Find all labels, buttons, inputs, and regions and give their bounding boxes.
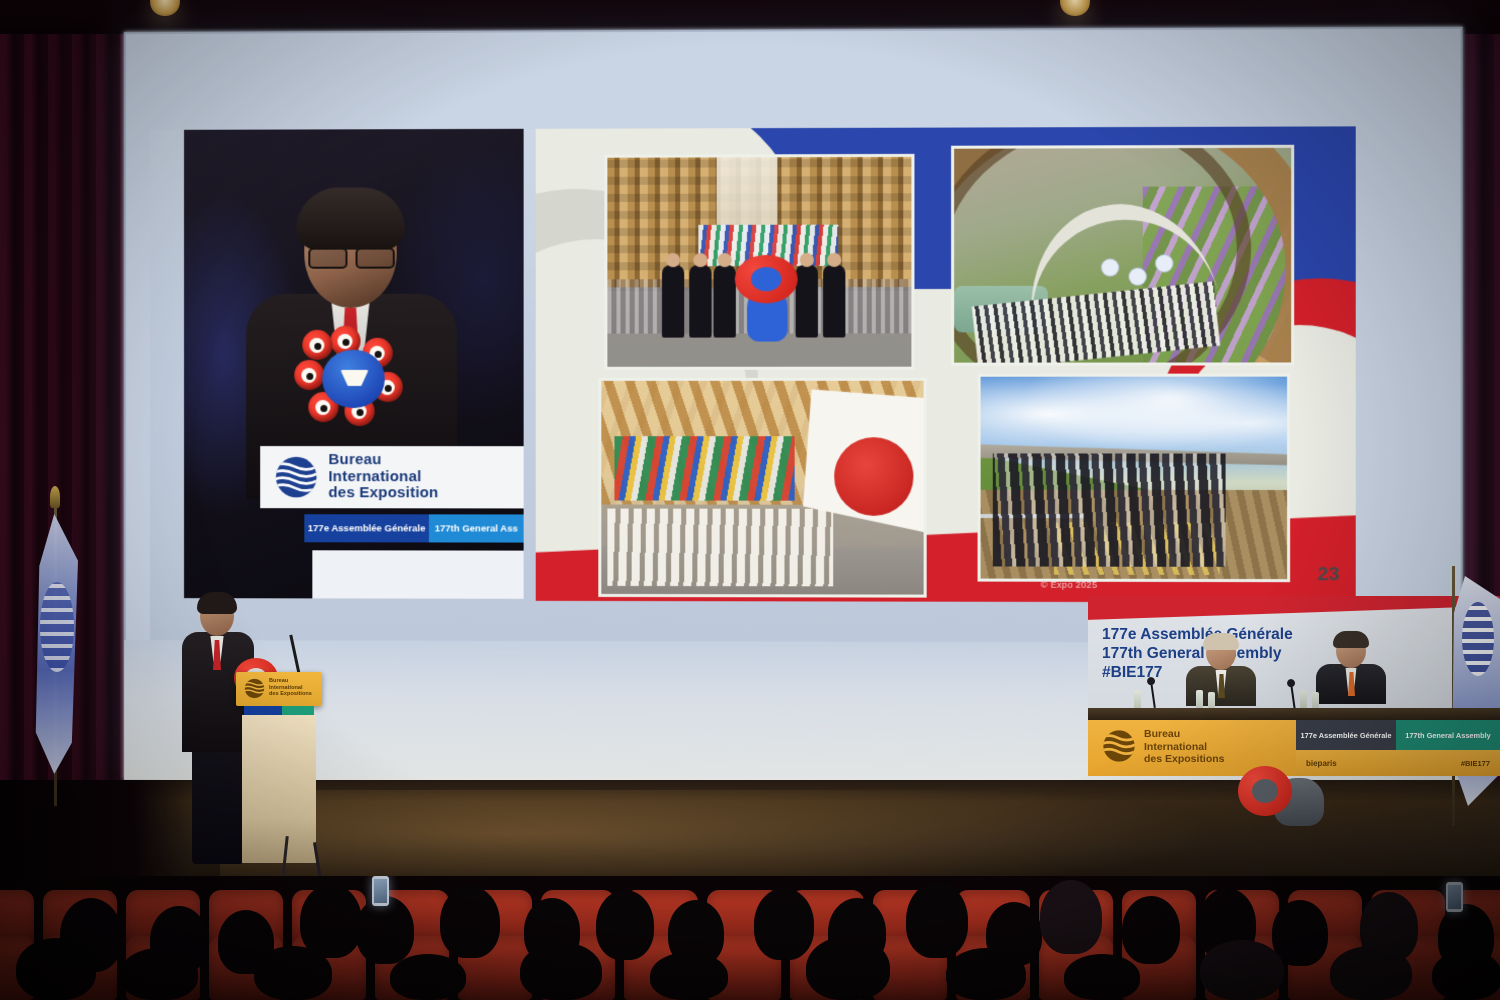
mascot-costume-in-photo [735, 255, 798, 342]
table-banner-right: 177e Assemblée Générale 177th General As… [1296, 720, 1500, 776]
official-hair [1333, 631, 1369, 648]
myaku-myaku-mascot-plush [294, 326, 413, 430]
event-hashtag: #BIE177 [1461, 759, 1490, 768]
audience-head [356, 896, 414, 964]
audience-head [906, 882, 968, 958]
audience-head [390, 954, 466, 1000]
photo-flagbearers-japan [598, 378, 926, 598]
audience-head [754, 888, 814, 960]
flag-finial [50, 486, 60, 508]
audience-head [1272, 900, 1328, 966]
audience-head [1330, 946, 1412, 1000]
official-hair [1203, 633, 1239, 650]
audience-seating [0, 876, 1500, 1000]
video-feed-panel: Bureau International des Exposition 177e… [184, 129, 524, 599]
audience-head [806, 936, 890, 1000]
video-language-band: 177e Assemblée Générale 177th General As… [304, 514, 523, 542]
table-surface [1088, 708, 1500, 720]
table-band-en: 177th General Assembly [1396, 720, 1500, 750]
water-bottle [1196, 690, 1203, 710]
table-social-row: bieparis #BIE177 [1296, 750, 1500, 776]
photo-grand-ring-aerial [951, 145, 1294, 366]
audience-head [946, 948, 1026, 1000]
speaker-hair [296, 187, 405, 249]
podium-sign-panel: Bureau International des Expositions [236, 672, 322, 706]
audience-head [1122, 896, 1180, 964]
slide-photo-collage: © Expo 2025 23 [536, 126, 1356, 602]
audience-head [300, 884, 362, 958]
bie-wave-logo-icon [274, 455, 318, 499]
auditorium-scene: Bureau International des Exposition 177e… [0, 0, 1500, 1000]
backdrop-red-swoosh [1088, 596, 1500, 622]
audience-head [1064, 954, 1140, 1000]
mascot-costume-eye-ring [1238, 766, 1292, 816]
audience-head [1040, 880, 1102, 954]
speaker-glasses [308, 248, 394, 265]
audience-head [254, 946, 332, 1000]
speaker-podium: Bureau International des Expositions [236, 672, 322, 864]
video-podium-sign-text: Bureau International des Exposition [328, 452, 438, 503]
presentation-slide: Bureau International des Exposition 177e… [150, 126, 1356, 643]
video-podium-sign: Bureau International des Exposition [260, 446, 523, 508]
slide-number: 23 [1318, 564, 1340, 586]
bie-wave-logo-icon [40, 582, 74, 672]
bie-wave-logo-icon [1102, 729, 1136, 763]
speaker-hair [197, 592, 237, 614]
podium-body [242, 715, 316, 863]
audience-head [650, 952, 728, 1000]
myaku-myaku-mascot-costume [1238, 762, 1324, 836]
bie-wave-logo-icon [1462, 602, 1494, 676]
podium-language-band [244, 706, 314, 715]
video-band-en: 177th General Ass [429, 514, 524, 542]
audience-head [596, 890, 654, 960]
bie-flag-left [28, 486, 84, 806]
table-language-row: 177e Assemblée Générale 177th General As… [1296, 720, 1500, 750]
audience-phone-screen [1446, 882, 1463, 912]
seated-official-right [1316, 634, 1386, 700]
photo-boardwalk-delegates [978, 374, 1291, 583]
audience-head [1200, 940, 1284, 1000]
podium-band-fr [244, 706, 282, 715]
podium-sign-text: Bureau International des Expositions [269, 678, 312, 698]
bie-flag-right [1448, 566, 1500, 846]
video-band-fr: 177e Assemblée Générale [304, 514, 429, 542]
audience-head [1432, 950, 1500, 1000]
japan-flag-disc [835, 437, 914, 516]
photo-flag-parade-grand-ring [604, 154, 914, 370]
photo-copyright: © Expo 2025 [1041, 580, 1098, 590]
podium-band-en [282, 706, 314, 715]
audience-head [120, 948, 198, 1000]
audience-phone-screen [372, 876, 389, 906]
video-lower-white-panel [312, 550, 523, 599]
water-bottle [1134, 690, 1141, 710]
water-bottle [1300, 690, 1307, 710]
bie-wave-logo-icon [244, 678, 265, 699]
table-banner-org-text: Bureau International des Expositions [1144, 728, 1225, 766]
audience-head [440, 886, 500, 958]
audience-head [16, 938, 96, 1000]
audience-head [520, 942, 602, 1000]
table-band-fr: 177e Assemblée Générale [1296, 720, 1396, 750]
